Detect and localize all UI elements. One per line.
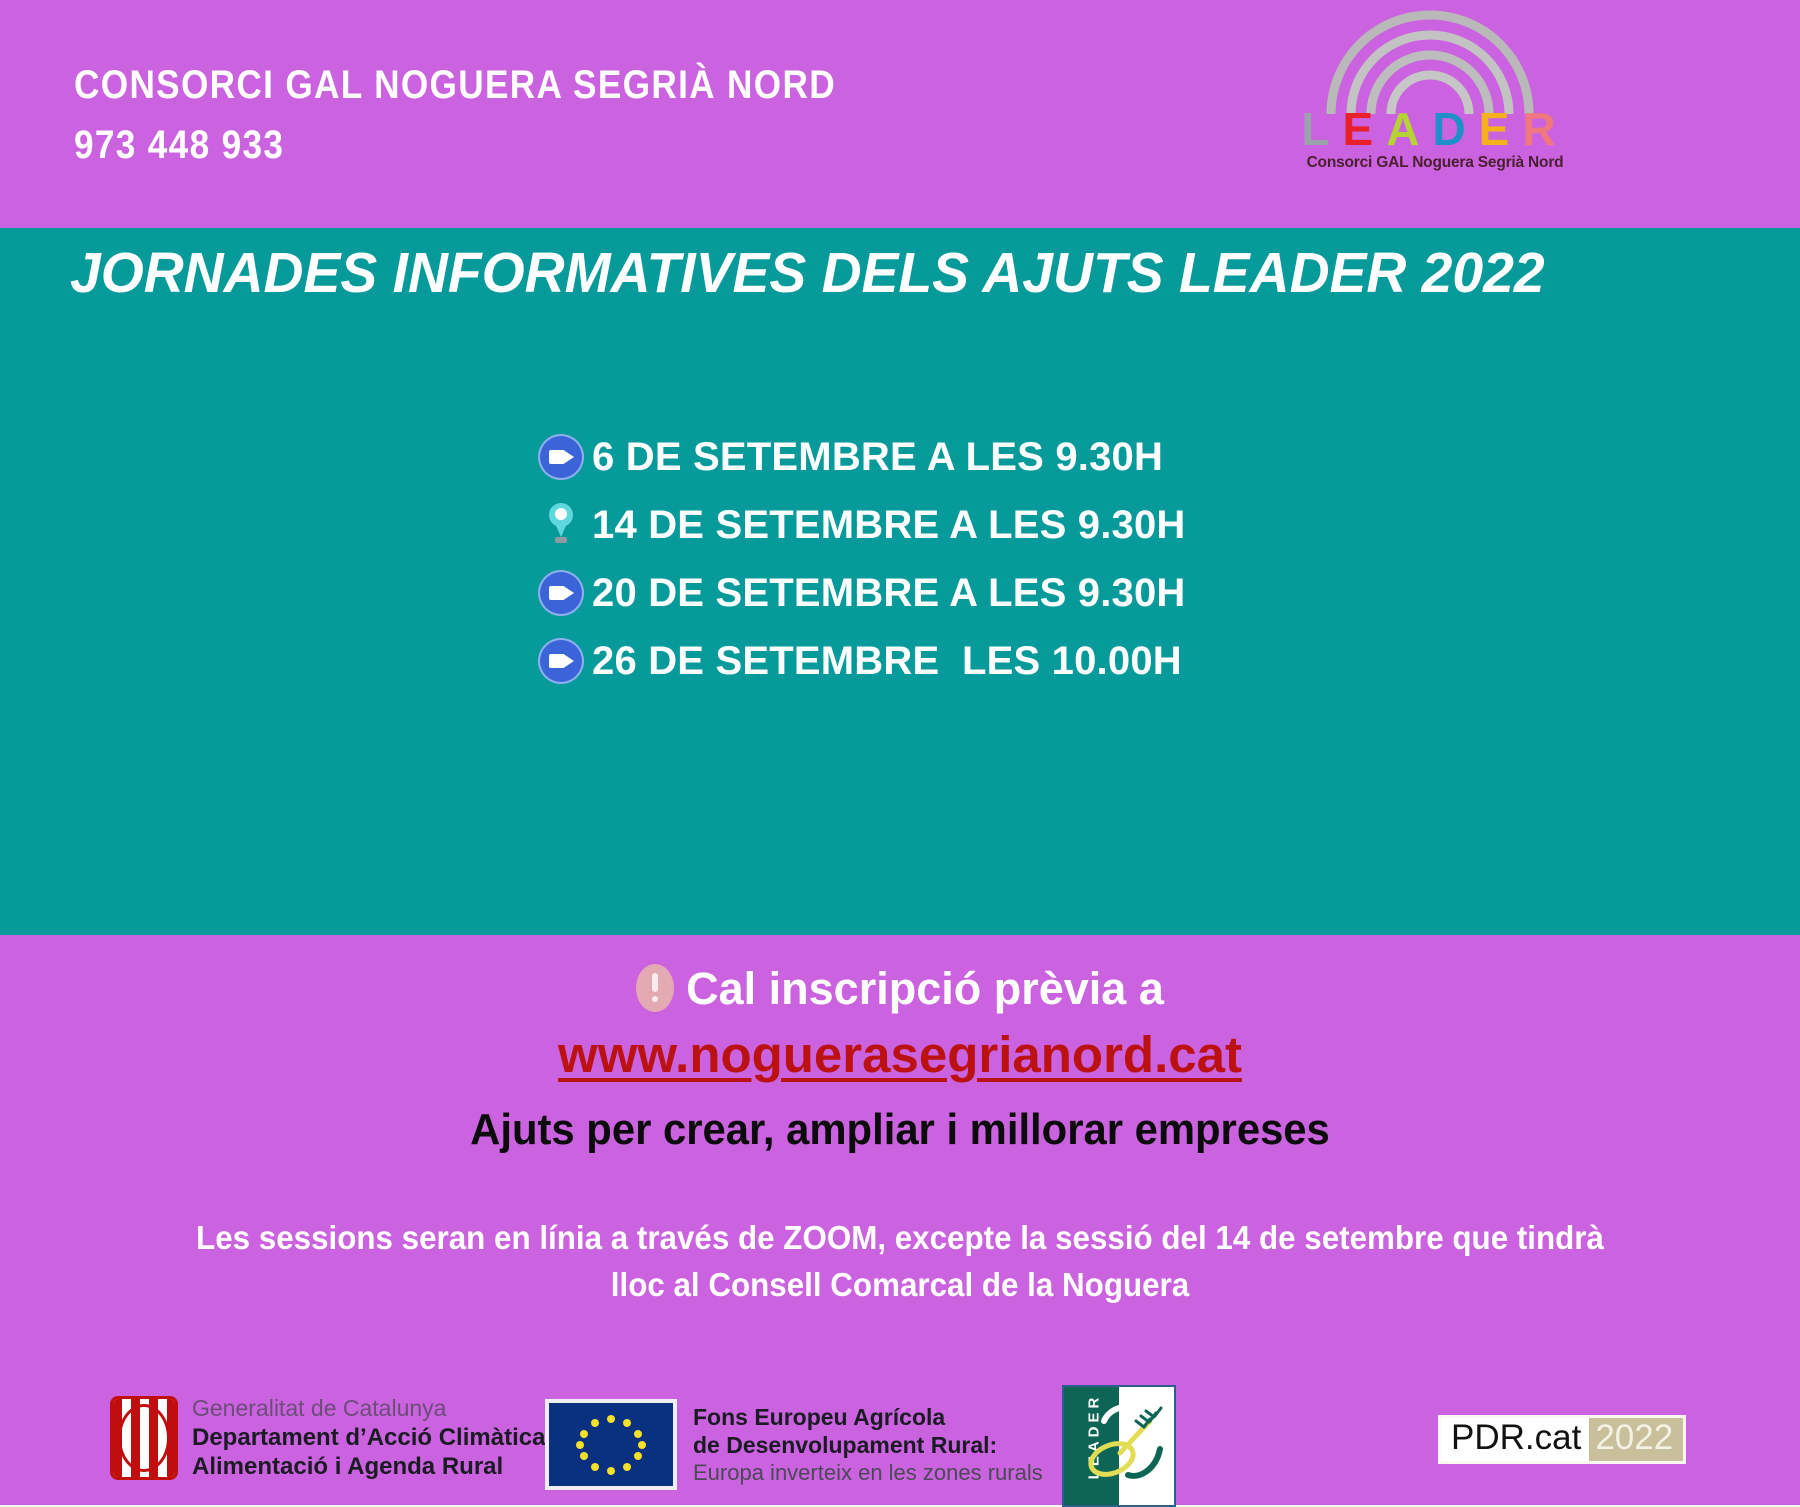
signup-text: Cal inscripció prèvia a [686,963,1164,1014]
video-camera-icon [540,436,592,478]
exclamation-mark-icon [636,964,674,1012]
signup-line: Cal inscripció prèvia a [0,963,1800,1015]
leader-letter-4: D [1432,106,1478,152]
map-pin-icon [540,501,592,549]
session-text: 6 DE SETEMBRE A LES 9.30H [592,435,1163,480]
list-item: 14 DE SETEMBRE A LES 9.30H [540,491,1186,559]
session-note: Les sessions seran en línia a través de … [45,1215,1755,1309]
header-banner: CONSORCI GAL NOGUERA SEGRIÀ NORD 973 448… [0,0,1800,228]
organization-block: CONSORCI GAL NOGUERA SEGRIÀ NORD 973 448… [74,62,940,168]
sponsor-logos: Generalitat de Catalunya Departament d’A… [0,1385,1800,1505]
leader-logo: LEADER Consorci GAL Noguera Segrià Nord [1285,6,1585,181]
poster: CONSORCI GAL NOGUERA SEGRIÀ NORD 973 448… [0,0,1800,1505]
page-title: JORNADES INFORMATIVES DELS AJUTS LEADER … [70,240,1719,306]
list-item: 6 DE SETEMBRE A LES 9.30H [540,423,1186,491]
leader-letter-1: L [1301,106,1342,152]
eu-flag-icon [545,1399,677,1490]
pdr-cat-logo: PDR.cat 2022 [1438,1415,1686,1464]
video-camera-icon [540,572,592,614]
sessions-list: 6 DE SETEMBRE A LES 9.30H 14 DE SETEMBRE… [540,423,1186,695]
catalonia-shield-icon [110,1396,178,1480]
generalitat-line-2: Departament d’Acció Climàtica, [192,1423,552,1452]
generalitat-logo: Generalitat de Catalunya Departament d’A… [110,1395,552,1481]
main-section: JORNADES INFORMATIVES DELS AJUTS LEADER … [0,228,1800,935]
eu-line-3: Europa inverteix en les zones rurals [693,1459,1043,1487]
leader-letter-3: A [1386,106,1432,152]
eu-line-2: de Desenvolupament Rural: [693,1431,1043,1459]
leader-wordmark: LEADER [1285,106,1585,152]
leader-letter-6: R [1522,106,1568,152]
pdr-name: PDR.cat [1441,1418,1589,1461]
pdr-year: 2022 [1589,1418,1683,1461]
leader-emblem-icon [1064,1387,1170,1501]
leader-square-logo: LEADER [1062,1385,1176,1507]
leader-letter-2: E [1343,106,1387,152]
european-union-logo: Fons Europeu Agrícola de Desenvolupament… [545,1399,1043,1490]
video-camera-icon [540,640,592,682]
generalitat-line-3: Alimentació i Agenda Rural [192,1452,552,1481]
list-item: 26 DE SETEMBRE LES 10.00H [540,627,1186,695]
tagline: Ajuts per crear, ampliar i millorar empr… [45,1105,1755,1155]
list-item: 20 DE SETEMBRE A LES 9.30H [540,559,1186,627]
leader-letter-5: E [1479,106,1523,152]
organization-name: CONSORCI GAL NOGUERA SEGRIÀ NORD [74,62,836,108]
eu-line-1: Fons Europeu Agrícola [693,1403,1043,1431]
session-text: 20 DE SETEMBRE A LES 9.30H [592,571,1186,616]
registration-url-link[interactable]: www.noguerasegrianord.cat [0,1025,1800,1084]
session-text: 14 DE SETEMBRE A LES 9.30H [592,503,1186,548]
organization-phone: 973 448 933 [74,122,836,168]
leader-arcs-icon [1325,6,1535,116]
session-text: 26 DE SETEMBRE LES 10.00H [592,639,1182,684]
leader-logo-subtitle: Consorci GAL Noguera Segrià Nord [1285,154,1585,172]
generalitat-line-1: Generalitat de Catalunya [192,1395,552,1423]
